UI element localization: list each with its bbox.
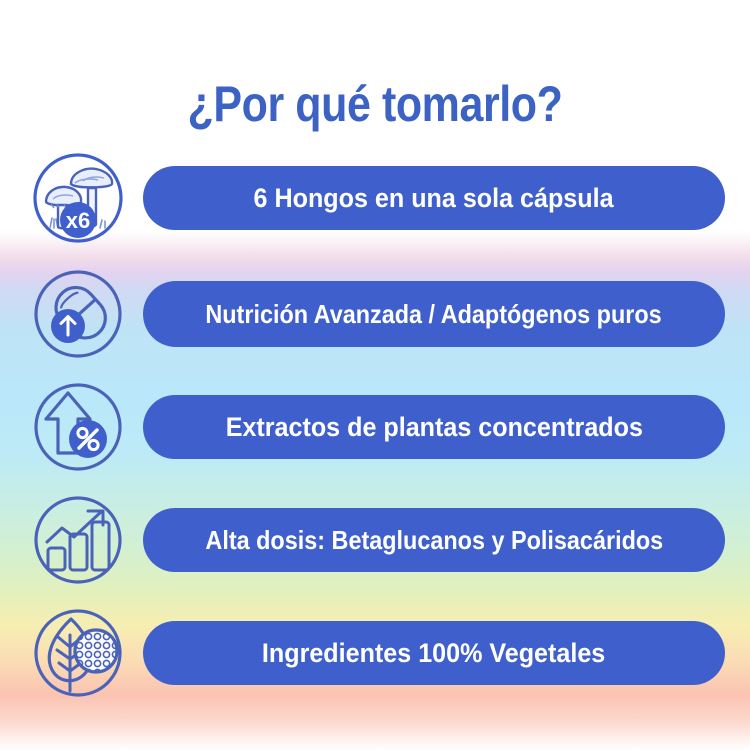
feature-pill-dose[interactable]: Alta dosis: Betaglucanos y Polisacáridos — [143, 508, 725, 572]
mushrooms-x6-icon: x6 — [30, 150, 126, 246]
feature-label: Extractos de plantas concentrados — [225, 412, 642, 442]
leaf-mesh-circle-icon — [30, 605, 126, 701]
feature-row: Nutrición Avanzada / Adaptógenos puros — [0, 266, 750, 362]
feature-label: 6 Hongos en una sola cápsula — [254, 183, 614, 213]
page-title: ¿Por qué tomarlo? — [53, 76, 698, 132]
feature-pill-mushrooms[interactable]: 6 Hongos en una sola cápsula — [143, 166, 725, 230]
feature-label: Nutrición Avanzada / Adaptógenos puros — [206, 299, 662, 329]
feature-row: x6 6 Hongos en una sola cápsula — [0, 150, 750, 246]
capsule-up-arrow-icon — [30, 266, 126, 362]
feature-row: Ingredientes 100% Vegetales — [0, 605, 750, 701]
feature-pill-extracts[interactable]: Extractos de plantas concentrados — [143, 395, 725, 459]
feature-row: Alta dosis: Betaglucanos y Polisacáridos — [0, 492, 750, 588]
feature-row: Extractos de plantas concentrados — [0, 379, 750, 475]
feature-pill-nutrition[interactable]: Nutrición Avanzada / Adaptógenos puros — [143, 281, 725, 347]
feature-label: Ingredientes 100% Vegetales — [262, 638, 605, 668]
feature-pill-vegetal[interactable]: Ingredientes 100% Vegetales — [143, 621, 725, 685]
feature-label: Alta dosis: Betaglucanos y Polisacáridos — [205, 525, 663, 555]
bar-chart-growth-icon — [30, 492, 126, 588]
infographic-panel: ¿Por qué tomarlo? — [0, 0, 750, 750]
mushroom-count-badge-label: x6 — [66, 208, 90, 233]
up-arrow-percent-icon — [30, 379, 126, 475]
